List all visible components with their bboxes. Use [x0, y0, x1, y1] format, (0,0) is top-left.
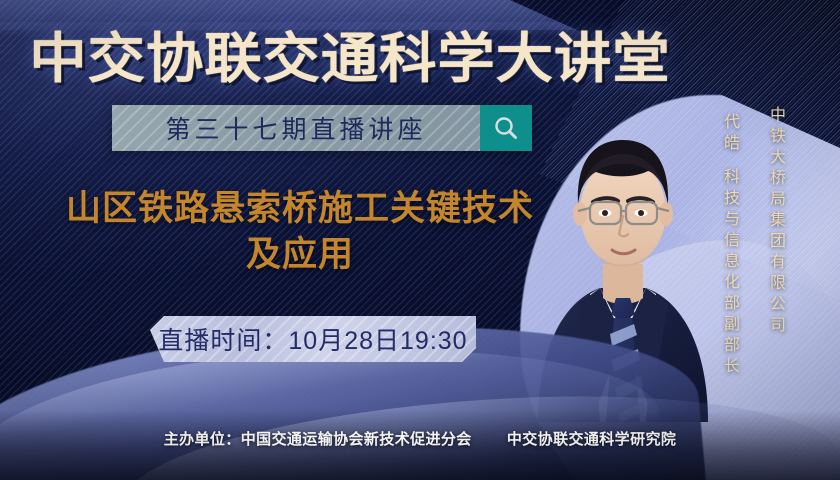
- episode-label: 第三十七期直播讲座: [165, 110, 426, 146]
- webinar-poster: 中交协联交通科学大讲堂 第三十七期直播讲座 山区铁路悬索桥施工关键技术 及应用 …: [0, 0, 840, 480]
- background-vignette: [0, 0, 840, 480]
- episode-bar-body: 第三十七期直播讲座: [112, 105, 480, 151]
